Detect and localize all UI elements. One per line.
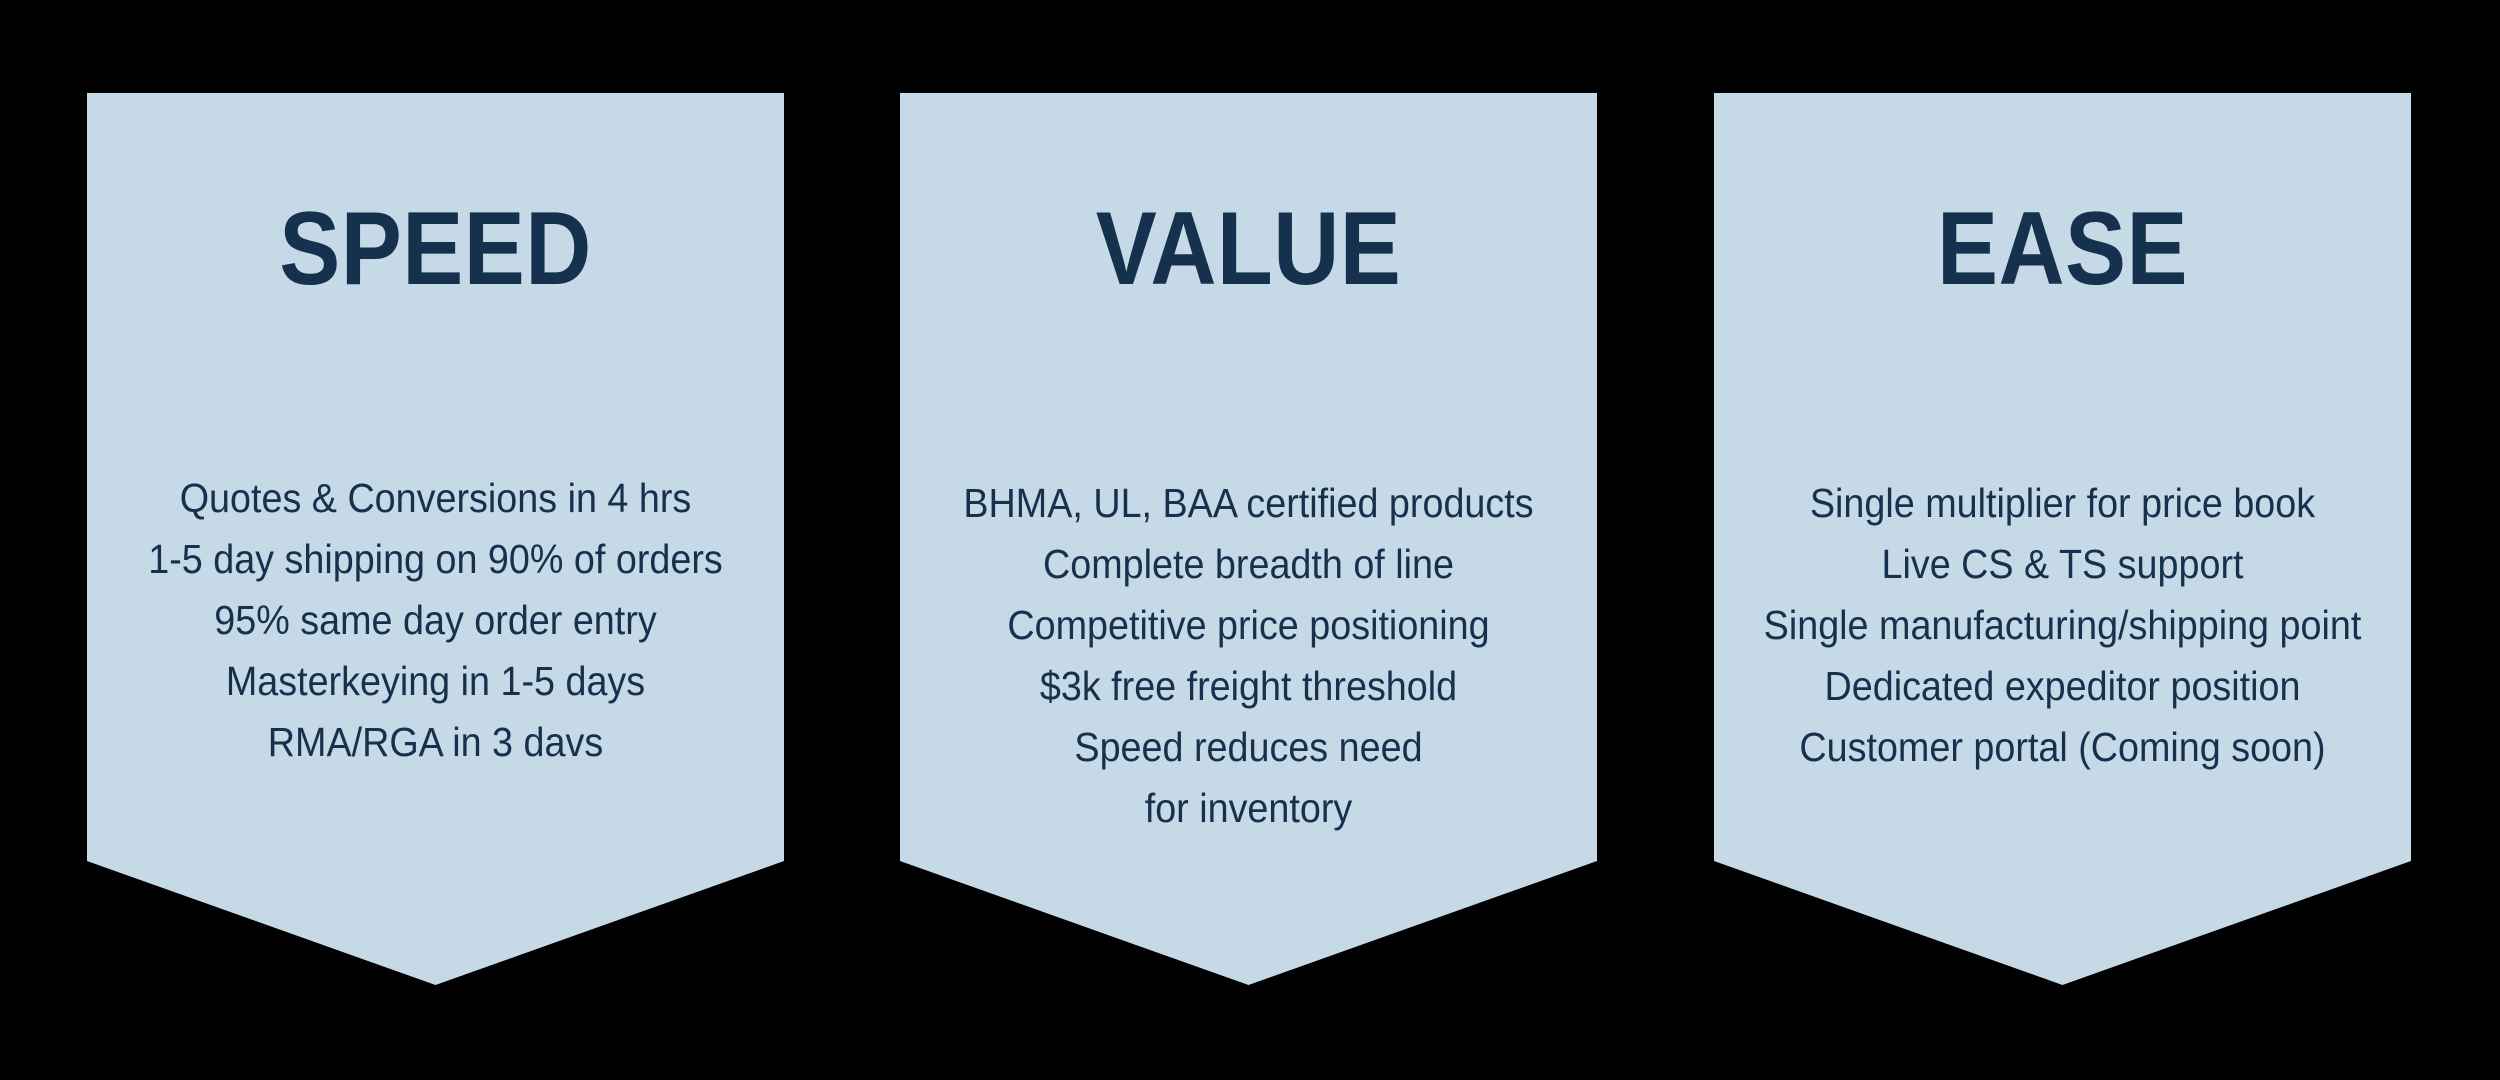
banner-ease-line-1: Single multiplier for price book xyxy=(1742,473,2383,534)
banner-ease: EASE Single multiplier for price book Li… xyxy=(1714,93,2411,985)
banner-value-line-2: Complete breadth of line xyxy=(928,534,1569,595)
banner-speed-line-5: RMA/RGA in 3 davs xyxy=(115,712,756,773)
banner-value-body: BHMA, UL, BAA certified products Complet… xyxy=(928,473,1569,839)
banner-ease-line-2: Live CS & TS support xyxy=(1742,534,2383,595)
banner-value-line-1: BHMA, UL, BAA certified products xyxy=(928,473,1569,534)
banner-ease-line-5: Customer portal (Coming soon) xyxy=(1742,717,2383,778)
banner-ease-line-4: Dedicated expeditor position xyxy=(1742,656,2383,717)
banner-speed-heading: SPEED xyxy=(129,197,742,301)
banner-ease-line-3: Single manufacturing/shipping point xyxy=(1742,595,2383,656)
banner-value-heading: VALUE xyxy=(942,197,1555,301)
banner-ease-body: Single multiplier for price book Live CS… xyxy=(1742,473,2383,778)
banner-speed-line-4: Masterkeying in 1-5 days xyxy=(115,651,756,712)
infographic-canvas: SPEED Quotes & Conversions in 4 hrs 1-5 … xyxy=(0,0,2500,1080)
banner-speed-line-1: Quotes & Conversions in 4 hrs xyxy=(115,468,756,529)
banner-speed-line-2: 1-5 day shipping on 90% of orders xyxy=(115,529,756,590)
banner-ease-heading: EASE xyxy=(1756,197,2369,301)
banner-speed-body: Quotes & Conversions in 4 hrs 1-5 day sh… xyxy=(115,468,756,773)
banner-speed: SPEED Quotes & Conversions in 4 hrs 1-5 … xyxy=(87,93,784,985)
banner-value-line-3: Competitive price positioning xyxy=(928,595,1569,656)
banner-value-line-4: $3k free freight threshold xyxy=(928,656,1569,717)
banner-value-line-5: Speed reduces need xyxy=(928,717,1569,778)
banner-value-line-6: for inventory xyxy=(928,778,1569,839)
banner-speed-line-3: 95% same day order entry xyxy=(115,590,756,651)
banner-value: VALUE BHMA, UL, BAA certified products C… xyxy=(900,93,1597,985)
